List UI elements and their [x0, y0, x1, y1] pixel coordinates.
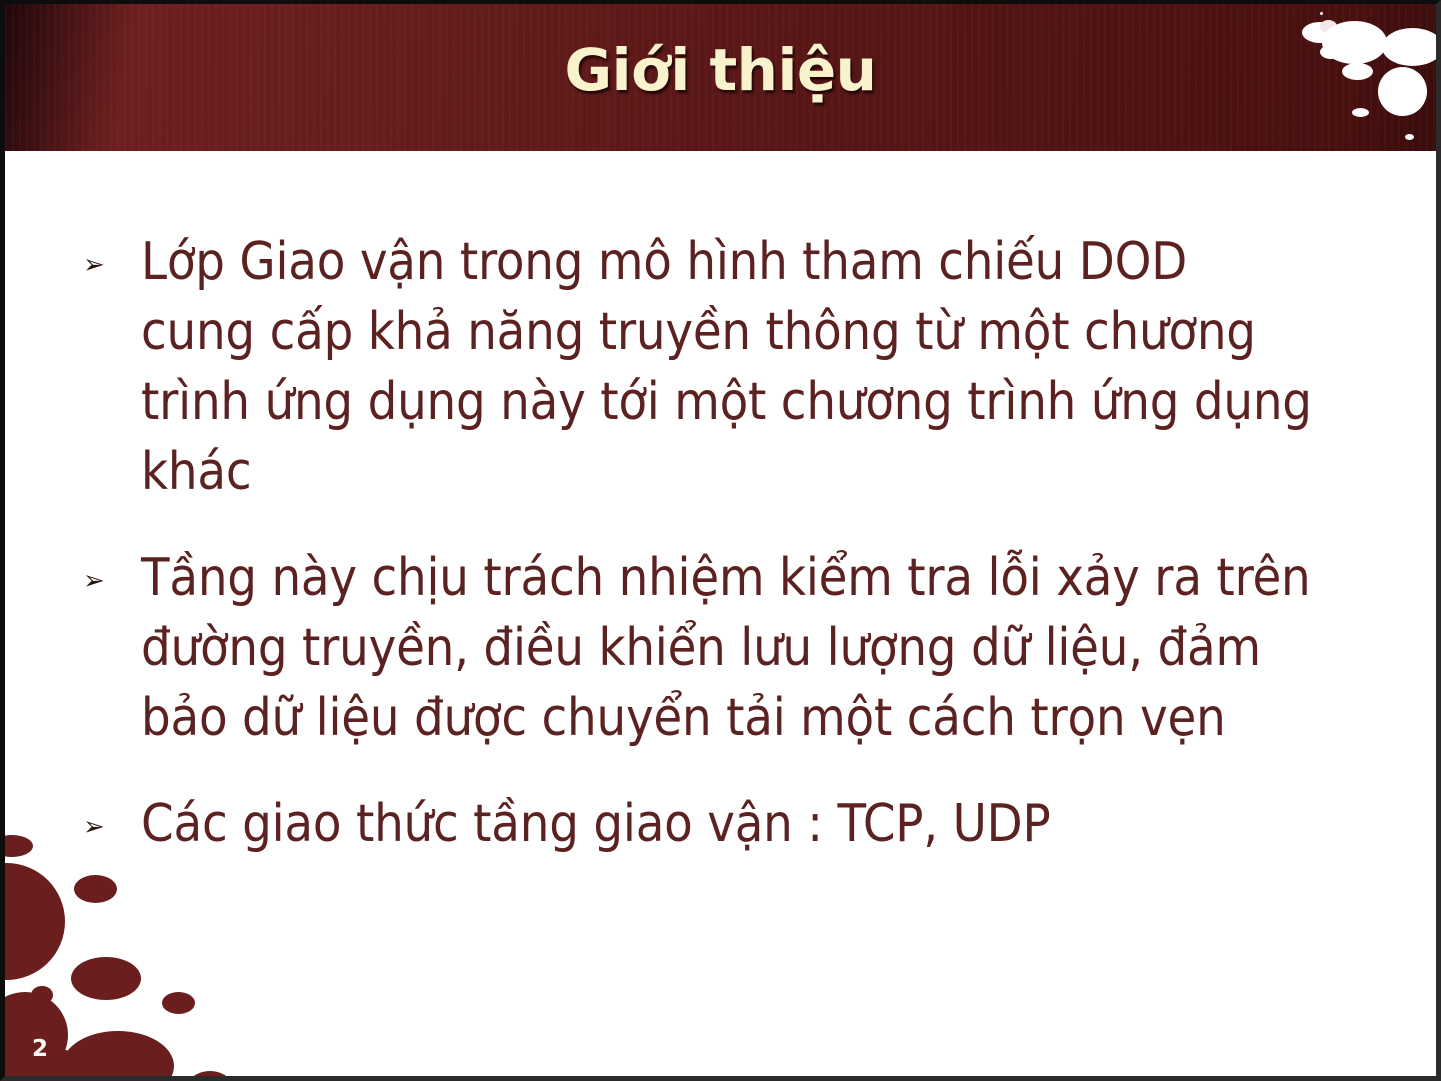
bullet-list: ➢ Lớp Giao vận trong mô hình tham chiếu …: [83, 228, 1313, 860]
bullet-item-1: ➢ Lớp Giao vận trong mô hình tham chiếu …: [83, 228, 1313, 508]
corner-bubble-2: [0, 863, 65, 980]
header-bubble-9: [1352, 108, 1369, 117]
corner-bubble-4: [71, 957, 141, 1000]
corner-bubble-1: [0, 835, 33, 857]
bullet-text-2: Tầng này chịu trách nhiệm kiểm tra lỗi x…: [141, 544, 1313, 754]
corner-bubble-10: [190, 1071, 230, 1081]
slide-title: Giới thiệu: [5, 40, 1436, 101]
presentation-slide: Giới thiệu ➢ Lớp Giao vận trong mô hình …: [0, 0, 1441, 1081]
header-bubble-4: [1320, 12, 1323, 15]
slide-header-banner: Giới thiệu: [5, 4, 1436, 151]
bullet-item-2: ➢ Tầng này chịu trách nhiệm kiểm tra lỗi…: [83, 544, 1313, 754]
corner-bubble-3: [74, 875, 117, 903]
bullet-text-3: Các giao thức tầng giao vận : TCP, UDP: [141, 790, 1313, 860]
bullet-text-1: Lớp Giao vận trong mô hình tham chiếu DO…: [141, 228, 1313, 508]
bullet-item-3: ➢ Các giao thức tầng giao vận : TCP, UDP: [83, 790, 1313, 860]
page-number: 2: [32, 1036, 48, 1062]
header-bubble-10: [1405, 134, 1414, 140]
arrow-bullet-icon: ➢: [83, 790, 141, 840]
corner-bubble-5: [162, 992, 195, 1014]
slide-body: ➢ Lớp Giao vận trong mô hình tham chiếu …: [5, 151, 1436, 1076]
corner-bubble-7: [31, 986, 53, 1004]
arrow-bullet-icon: ➢: [83, 544, 141, 594]
arrow-bullet-icon: ➢: [83, 228, 141, 278]
